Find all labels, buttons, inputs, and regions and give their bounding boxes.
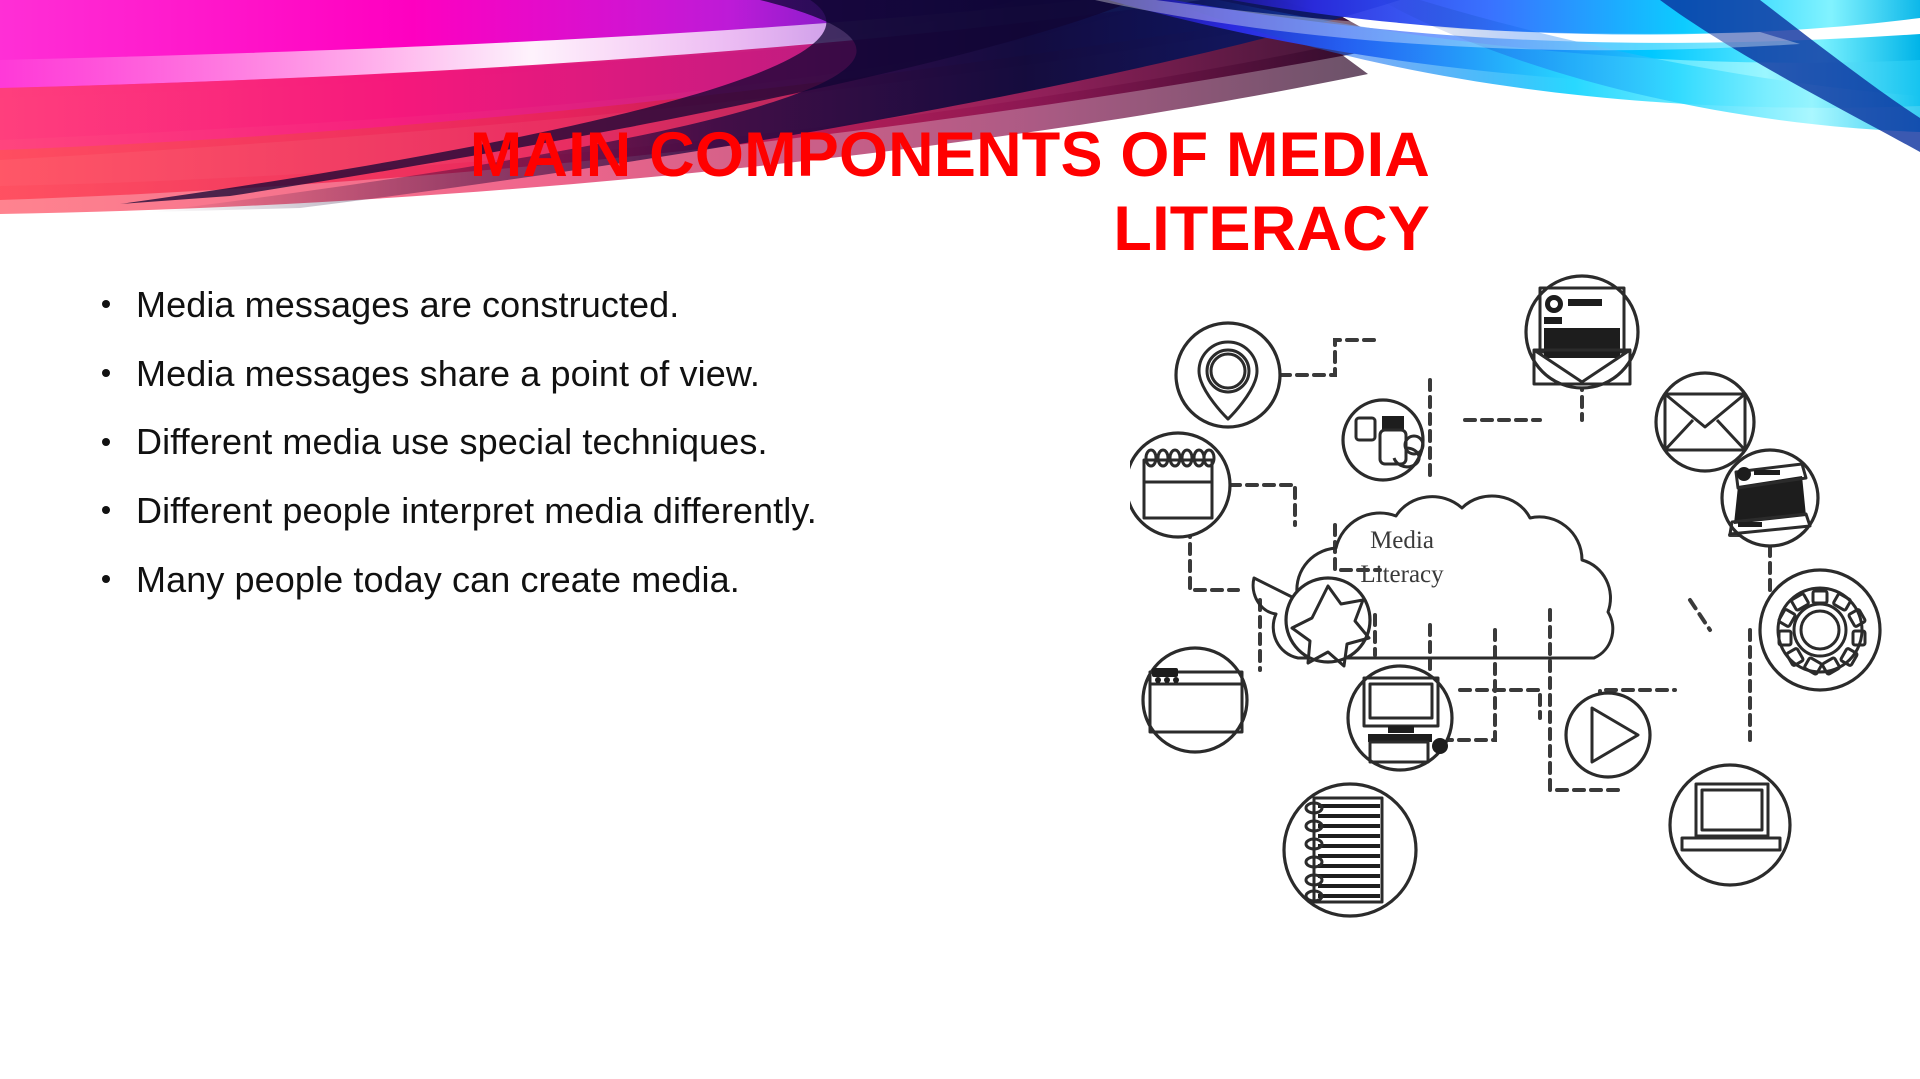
list-item: Different media use special techniques. bbox=[96, 415, 976, 470]
node-notebook[interactable] bbox=[1284, 784, 1416, 916]
slide-title: MAIN COMPONENTS OF MEDIA LITERACY bbox=[430, 118, 1430, 267]
bullet-dot-icon bbox=[102, 438, 110, 446]
node-browser-window[interactable] bbox=[1143, 648, 1247, 752]
list-item: Media messages are constructed. bbox=[96, 278, 976, 333]
bullet-text: Different people interpret media differe… bbox=[136, 490, 817, 531]
cloud-label-line-1: Media bbox=[1370, 527, 1434, 554]
bullet-text: Media messages are constructed. bbox=[136, 284, 679, 325]
node-calendar[interactable] bbox=[1130, 433, 1230, 537]
cloud-label-line-2: Literacy bbox=[1360, 561, 1444, 588]
node-envelope[interactable] bbox=[1656, 373, 1754, 471]
node-film-reel[interactable] bbox=[1760, 570, 1880, 690]
bullet-list: Media messages are constructed. Media me… bbox=[96, 278, 976, 622]
list-item: Many people today can create media. bbox=[96, 553, 976, 608]
node-newsletter[interactable] bbox=[1526, 276, 1638, 388]
title-line-2: LITERACY bbox=[430, 192, 1430, 266]
slide: MAIN COMPONENTS OF MEDIA LITERACY Media … bbox=[0, 0, 1920, 1079]
bullet-dot-icon bbox=[102, 369, 110, 377]
bullet-text: Different media use special techniques. bbox=[136, 421, 768, 462]
node-location-pin[interactable] bbox=[1176, 323, 1280, 427]
media-literacy-diagram: .chain{stroke:#3a3a3a;stroke-width:4;fil… bbox=[1130, 270, 1920, 1070]
list-item: Different people interpret media differe… bbox=[96, 484, 976, 539]
calendar-icon bbox=[1146, 450, 1214, 466]
node-usb-drive[interactable] bbox=[1343, 400, 1423, 480]
bullet-text: Media messages share a point of view. bbox=[136, 353, 760, 394]
node-play-button[interactable] bbox=[1566, 693, 1650, 777]
node-desktop-computer[interactable] bbox=[1348, 666, 1452, 770]
title-line-1: MAIN COMPONENTS OF MEDIA bbox=[430, 118, 1430, 192]
bullet-text: Many people today can create media. bbox=[136, 559, 740, 600]
node-laptop[interactable] bbox=[1670, 765, 1790, 885]
list-item: Media messages share a point of view. bbox=[96, 347, 976, 402]
node-star[interactable] bbox=[1286, 578, 1370, 666]
bullet-dot-icon bbox=[102, 300, 110, 308]
node-laptop-open[interactable] bbox=[1722, 450, 1818, 546]
bullet-dot-icon bbox=[102, 575, 110, 583]
bullet-dot-icon bbox=[102, 506, 110, 514]
